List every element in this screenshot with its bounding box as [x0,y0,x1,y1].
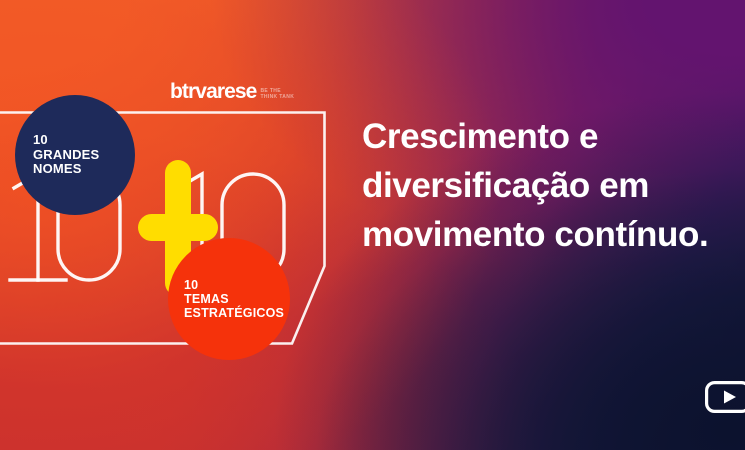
brand-logo: btrvarese BE THE THINK TANK [170,81,294,102]
badge-temas-estrategicos-label: 10 TEMAS ESTRATÉGICOS [184,278,290,320]
badge-temas-estrategicos: 10 TEMAS ESTRATÉGICOS [168,238,290,360]
brand-wordmark: btrvarese [170,81,256,102]
plus-horizontal-bar [138,214,218,241]
brand-tagline: BE THE THINK TANK [260,88,294,102]
thumbnail-canvas: 10 GRANDES NOMES 10 TEMAS ESTRATÉGICOS b… [0,0,745,450]
badge-grandes-nomes-label: 10 GRANDES NOMES [33,133,135,177]
headline-text: Crescimento e diversificação em moviment… [362,112,734,259]
badge-grandes-nomes: 10 GRANDES NOMES [15,95,135,215]
play-button-icon[interactable] [705,381,745,413]
